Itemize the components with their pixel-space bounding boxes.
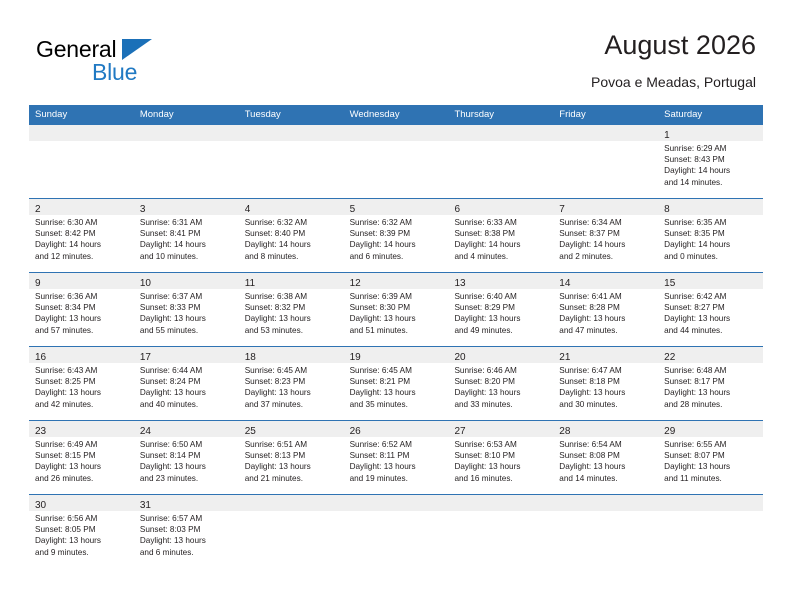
daylight-text-line1: Daylight: 14 hours xyxy=(245,239,340,250)
day-number-band: 12 xyxy=(344,273,449,289)
day-number: 6 xyxy=(448,204,460,215)
day-number-band: 6 xyxy=(448,199,553,215)
day-cell[interactable]: 8Sunrise: 6:35 AMSunset: 8:35 PMDaylight… xyxy=(658,199,763,272)
day-details: Sunrise: 6:47 AMSunset: 8:18 PMDaylight:… xyxy=(553,363,658,410)
daylight-text-line1: Daylight: 13 hours xyxy=(664,313,759,324)
daylight-text-line2: and 2 minutes. xyxy=(559,251,654,262)
sunrise-text: Sunrise: 6:45 AM xyxy=(350,365,445,376)
day-number: 28 xyxy=(553,426,570,437)
sunrise-text: Sunrise: 6:53 AM xyxy=(454,439,549,450)
day-details: Sunrise: 6:45 AMSunset: 8:21 PMDaylight:… xyxy=(344,363,449,410)
daylight-text-line1: Daylight: 13 hours xyxy=(140,535,235,546)
daylight-text-line2: and 47 minutes. xyxy=(559,325,654,336)
sunset-text: Sunset: 8:33 PM xyxy=(140,302,235,313)
day-number-band xyxy=(448,125,553,141)
daylight-text-line1: Daylight: 13 hours xyxy=(559,313,654,324)
sunrise-text: Sunrise: 6:32 AM xyxy=(350,217,445,228)
weekday-header-saturday: Saturday xyxy=(658,105,763,125)
sunrise-text: Sunrise: 6:35 AM xyxy=(664,217,759,228)
day-details: Sunrise: 6:32 AMSunset: 8:40 PMDaylight:… xyxy=(239,215,344,262)
sunrise-text: Sunrise: 6:33 AM xyxy=(454,217,549,228)
day-cell[interactable]: 3Sunrise: 6:31 AMSunset: 8:41 PMDaylight… xyxy=(134,199,239,272)
day-details: Sunrise: 6:32 AMSunset: 8:39 PMDaylight:… xyxy=(344,215,449,262)
day-details: Sunrise: 6:39 AMSunset: 8:30 PMDaylight:… xyxy=(344,289,449,336)
week-row: 16Sunrise: 6:43 AMSunset: 8:25 PMDayligh… xyxy=(29,346,763,420)
daylight-text-line1: Daylight: 13 hours xyxy=(454,461,549,472)
day-number: 8 xyxy=(658,204,670,215)
sunset-text: Sunset: 8:41 PM xyxy=(140,228,235,239)
daylight-text-line1: Daylight: 13 hours xyxy=(35,387,130,398)
page-header: General Blue August 2026 Povoa e Meadas,… xyxy=(0,0,792,104)
sunset-text: Sunset: 8:43 PM xyxy=(664,154,759,165)
day-details: Sunrise: 6:57 AMSunset: 8:03 PMDaylight:… xyxy=(134,511,239,558)
daylight-text-line1: Daylight: 13 hours xyxy=(350,313,445,324)
sunrise-text: Sunrise: 6:54 AM xyxy=(559,439,654,450)
daylight-text-line1: Daylight: 14 hours xyxy=(140,239,235,250)
day-details: Sunrise: 6:36 AMSunset: 8:34 PMDaylight:… xyxy=(29,289,134,336)
day-number: 25 xyxy=(239,426,256,437)
weekday-header-thursday: Thursday xyxy=(448,105,553,125)
sunset-text: Sunset: 8:40 PM xyxy=(245,228,340,239)
day-cell[interactable]: 16Sunrise: 6:43 AMSunset: 8:25 PMDayligh… xyxy=(29,347,134,420)
day-number: 13 xyxy=(448,278,465,289)
week-row: 2Sunrise: 6:30 AMSunset: 8:42 PMDaylight… xyxy=(29,198,763,272)
day-number: 31 xyxy=(134,500,151,511)
day-details: Sunrise: 6:29 AMSunset: 8:43 PMDaylight:… xyxy=(658,141,763,188)
day-number: 18 xyxy=(239,352,256,363)
day-cell[interactable]: 22Sunrise: 6:48 AMSunset: 8:17 PMDayligh… xyxy=(658,347,763,420)
daylight-text-line2: and 44 minutes. xyxy=(664,325,759,336)
day-details: Sunrise: 6:44 AMSunset: 8:24 PMDaylight:… xyxy=(134,363,239,410)
sunrise-text: Sunrise: 6:29 AM xyxy=(664,143,759,154)
sunrise-text: Sunrise: 6:36 AM xyxy=(35,291,130,302)
day-number-band: 31 xyxy=(134,495,239,511)
day-number-band xyxy=(553,495,658,511)
day-number xyxy=(344,130,350,141)
triangle-icon xyxy=(122,39,152,60)
day-cell[interactable]: 13Sunrise: 6:40 AMSunset: 8:29 PMDayligh… xyxy=(448,273,553,346)
day-number: 7 xyxy=(553,204,565,215)
day-number: 3 xyxy=(134,204,146,215)
sunset-text: Sunset: 8:11 PM xyxy=(350,450,445,461)
daylight-text-line1: Daylight: 14 hours xyxy=(454,239,549,250)
day-details: Sunrise: 6:50 AMSunset: 8:14 PMDaylight:… xyxy=(134,437,239,484)
day-details: Sunrise: 6:31 AMSunset: 8:41 PMDaylight:… xyxy=(134,215,239,262)
day-number: 10 xyxy=(134,278,151,289)
sunrise-text: Sunrise: 6:46 AM xyxy=(454,365,549,376)
sunrise-text: Sunrise: 6:45 AM xyxy=(245,365,340,376)
daylight-text-line2: and 16 minutes. xyxy=(454,473,549,484)
sunset-text: Sunset: 8:03 PM xyxy=(140,524,235,535)
day-number-band: 29 xyxy=(658,421,763,437)
sunrise-text: Sunrise: 6:30 AM xyxy=(35,217,130,228)
day-cell[interactable]: 12Sunrise: 6:39 AMSunset: 8:30 PMDayligh… xyxy=(344,273,449,346)
daylight-text-line2: and 30 minutes. xyxy=(559,399,654,410)
sunset-text: Sunset: 8:08 PM xyxy=(559,450,654,461)
day-number xyxy=(553,130,559,141)
daylight-text-line1: Daylight: 13 hours xyxy=(245,387,340,398)
daylight-text-line2: and 28 minutes. xyxy=(664,399,759,410)
daylight-text-line1: Daylight: 13 hours xyxy=(140,313,235,324)
daylight-text-line2: and 23 minutes. xyxy=(140,473,235,484)
sunset-text: Sunset: 8:42 PM xyxy=(35,228,130,239)
day-number-band: 20 xyxy=(448,347,553,363)
day-cell-empty xyxy=(658,495,763,568)
daylight-text-line2: and 35 minutes. xyxy=(350,399,445,410)
day-cell[interactable]: 14Sunrise: 6:41 AMSunset: 8:28 PMDayligh… xyxy=(553,273,658,346)
day-number-band: 13 xyxy=(448,273,553,289)
sunrise-text: Sunrise: 6:43 AM xyxy=(35,365,130,376)
page-title: August 2026 xyxy=(591,28,756,62)
day-cell[interactable]: 2Sunrise: 6:30 AMSunset: 8:42 PMDaylight… xyxy=(29,199,134,272)
sunset-text: Sunset: 8:28 PM xyxy=(559,302,654,313)
day-number: 11 xyxy=(239,278,255,289)
sunrise-text: Sunrise: 6:37 AM xyxy=(140,291,235,302)
daylight-text-line2: and 26 minutes. xyxy=(35,473,130,484)
sunrise-text: Sunrise: 6:55 AM xyxy=(664,439,759,450)
day-details: Sunrise: 6:35 AMSunset: 8:35 PMDaylight:… xyxy=(658,215,763,262)
day-details: Sunrise: 6:38 AMSunset: 8:32 PMDaylight:… xyxy=(239,289,344,336)
sunset-text: Sunset: 8:15 PM xyxy=(35,450,130,461)
daylight-text-line2: and 53 minutes. xyxy=(245,325,340,336)
day-number: 24 xyxy=(134,426,151,437)
day-number: 22 xyxy=(658,352,675,363)
day-cell[interactable]: 30Sunrise: 6:56 AMSunset: 8:05 PMDayligh… xyxy=(29,495,134,568)
daylight-text-line2: and 19 minutes. xyxy=(350,473,445,484)
sunset-text: Sunset: 8:37 PM xyxy=(559,228,654,239)
day-details: Sunrise: 6:42 AMSunset: 8:27 PMDaylight:… xyxy=(658,289,763,336)
day-number: 30 xyxy=(29,500,46,511)
day-number: 5 xyxy=(344,204,356,215)
day-number: 12 xyxy=(344,278,361,289)
sunrise-text: Sunrise: 6:38 AM xyxy=(245,291,340,302)
day-cell[interactable]: 7Sunrise: 6:34 AMSunset: 8:37 PMDaylight… xyxy=(553,199,658,272)
daylight-text-line2: and 51 minutes. xyxy=(350,325,445,336)
daylight-text-line2: and 57 minutes. xyxy=(35,325,130,336)
day-cell-empty xyxy=(448,125,553,198)
day-cell[interactable]: 29Sunrise: 6:55 AMSunset: 8:07 PMDayligh… xyxy=(658,421,763,494)
day-number xyxy=(553,500,559,511)
day-number-band: 10 xyxy=(134,273,239,289)
daylight-text-line2: and 4 minutes. xyxy=(454,251,549,262)
daylight-text-line1: Daylight: 13 hours xyxy=(35,461,130,472)
daylight-text-line1: Daylight: 14 hours xyxy=(35,239,130,250)
sunset-text: Sunset: 8:05 PM xyxy=(35,524,130,535)
daylight-text-line2: and 10 minutes. xyxy=(140,251,235,262)
day-cell[interactable]: 5Sunrise: 6:32 AMSunset: 8:39 PMDaylight… xyxy=(344,199,449,272)
weekday-header-wednesday: Wednesday xyxy=(344,105,449,125)
day-cell[interactable]: 10Sunrise: 6:37 AMSunset: 8:33 PMDayligh… xyxy=(134,273,239,346)
week-row: 23Sunrise: 6:49 AMSunset: 8:15 PMDayligh… xyxy=(29,420,763,494)
daylight-text-line1: Daylight: 13 hours xyxy=(664,461,759,472)
sunrise-text: Sunrise: 6:41 AM xyxy=(559,291,654,302)
day-number-band xyxy=(344,495,449,511)
day-cell-empty xyxy=(239,125,344,198)
day-number: 15 xyxy=(658,278,675,289)
day-number: 21 xyxy=(553,352,570,363)
day-cell[interactable]: 20Sunrise: 6:46 AMSunset: 8:20 PMDayligh… xyxy=(448,347,553,420)
day-cell[interactable]: 23Sunrise: 6:49 AMSunset: 8:15 PMDayligh… xyxy=(29,421,134,494)
day-number: 20 xyxy=(448,352,465,363)
daylight-text-line1: Daylight: 13 hours xyxy=(245,461,340,472)
day-number-band xyxy=(448,495,553,511)
sunrise-text: Sunrise: 6:34 AM xyxy=(559,217,654,228)
logo-text-blue: Blue xyxy=(92,59,137,85)
day-number: 16 xyxy=(29,352,46,363)
daylight-text-line1: Daylight: 13 hours xyxy=(559,387,654,398)
daylight-text-line1: Daylight: 13 hours xyxy=(245,313,340,324)
general-blue-logo[interactable]: General Blue xyxy=(36,36,216,92)
day-number-band xyxy=(29,125,134,141)
day-number: 1 xyxy=(658,130,670,141)
day-number-band: 8 xyxy=(658,199,763,215)
day-number: 2 xyxy=(29,204,41,215)
day-cell[interactable]: 11Sunrise: 6:38 AMSunset: 8:32 PMDayligh… xyxy=(239,273,344,346)
day-details: Sunrise: 6:40 AMSunset: 8:29 PMDaylight:… xyxy=(448,289,553,336)
sunset-text: Sunset: 8:25 PM xyxy=(35,376,130,387)
sunset-text: Sunset: 8:35 PM xyxy=(664,228,759,239)
sunrise-text: Sunrise: 6:31 AM xyxy=(140,217,235,228)
day-number-band: 7 xyxy=(553,199,658,215)
day-number-band: 19 xyxy=(344,347,449,363)
day-number-band: 15 xyxy=(658,273,763,289)
day-cell[interactable]: 28Sunrise: 6:54 AMSunset: 8:08 PMDayligh… xyxy=(553,421,658,494)
day-number: 14 xyxy=(553,278,570,289)
sunset-text: Sunset: 8:17 PM xyxy=(664,376,759,387)
day-number: 17 xyxy=(134,352,151,363)
daylight-text-line2: and 49 minutes. xyxy=(454,325,549,336)
day-details: Sunrise: 6:56 AMSunset: 8:05 PMDaylight:… xyxy=(29,511,134,558)
day-number xyxy=(448,500,454,511)
sunrise-text: Sunrise: 6:40 AM xyxy=(454,291,549,302)
sunrise-text: Sunrise: 6:48 AM xyxy=(664,365,759,376)
daylight-text-line2: and 37 minutes. xyxy=(245,399,340,410)
day-cell[interactable]: 27Sunrise: 6:53 AMSunset: 8:10 PMDayligh… xyxy=(448,421,553,494)
day-number xyxy=(239,130,245,141)
day-number-band xyxy=(344,125,449,141)
day-details: Sunrise: 6:55 AMSunset: 8:07 PMDaylight:… xyxy=(658,437,763,484)
day-cell[interactable]: 18Sunrise: 6:45 AMSunset: 8:23 PMDayligh… xyxy=(239,347,344,420)
day-details: Sunrise: 6:41 AMSunset: 8:28 PMDaylight:… xyxy=(553,289,658,336)
page-subtitle: Povoa e Meadas, Portugal xyxy=(591,72,756,92)
day-number-band: 1 xyxy=(658,125,763,141)
day-cell[interactable]: 31Sunrise: 6:57 AMSunset: 8:03 PMDayligh… xyxy=(134,495,239,568)
day-number-band xyxy=(658,495,763,511)
sunrise-text: Sunrise: 6:56 AM xyxy=(35,513,130,524)
daylight-text-line2: and 55 minutes. xyxy=(140,325,235,336)
day-number xyxy=(658,500,664,511)
day-cell-empty xyxy=(344,125,449,198)
sunset-text: Sunset: 8:39 PM xyxy=(350,228,445,239)
sunset-text: Sunset: 8:24 PM xyxy=(140,376,235,387)
sunset-text: Sunset: 8:32 PM xyxy=(245,302,340,313)
day-number: 23 xyxy=(29,426,46,437)
day-cell[interactable]: 4Sunrise: 6:32 AMSunset: 8:40 PMDaylight… xyxy=(239,199,344,272)
day-number-band: 23 xyxy=(29,421,134,437)
day-cell[interactable]: 17Sunrise: 6:44 AMSunset: 8:24 PMDayligh… xyxy=(134,347,239,420)
day-cell-empty xyxy=(448,495,553,568)
daylight-text-line1: Daylight: 14 hours xyxy=(350,239,445,250)
sunset-text: Sunset: 8:14 PM xyxy=(140,450,235,461)
sunset-text: Sunset: 8:34 PM xyxy=(35,302,130,313)
day-number xyxy=(344,500,350,511)
weekday-header-friday: Friday xyxy=(553,105,658,125)
sunrise-text: Sunrise: 6:49 AM xyxy=(35,439,130,450)
sunset-text: Sunset: 8:10 PM xyxy=(454,450,549,461)
sunset-text: Sunset: 8:27 PM xyxy=(664,302,759,313)
daylight-text-line2: and 21 minutes. xyxy=(245,473,340,484)
day-cell[interactable]: 21Sunrise: 6:47 AMSunset: 8:18 PMDayligh… xyxy=(553,347,658,420)
day-number-band: 16 xyxy=(29,347,134,363)
day-number xyxy=(134,130,140,141)
day-cell[interactable]: 26Sunrise: 6:52 AMSunset: 8:11 PMDayligh… xyxy=(344,421,449,494)
daylight-text-line1: Daylight: 13 hours xyxy=(35,535,130,546)
daylight-text-line2: and 12 minutes. xyxy=(35,251,130,262)
sunrise-text: Sunrise: 6:51 AM xyxy=(245,439,340,450)
day-details: Sunrise: 6:46 AMSunset: 8:20 PMDaylight:… xyxy=(448,363,553,410)
title-block: August 2026 Povoa e Meadas, Portugal xyxy=(591,28,756,92)
sunset-text: Sunset: 8:07 PM xyxy=(664,450,759,461)
day-cell-empty xyxy=(553,125,658,198)
day-cell[interactable]: 9Sunrise: 6:36 AMSunset: 8:34 PMDaylight… xyxy=(29,273,134,346)
calendar-page: General Blue August 2026 Povoa e Meadas,… xyxy=(0,0,792,612)
daylight-text-line2: and 9 minutes. xyxy=(35,547,130,558)
day-number-band: 21 xyxy=(553,347,658,363)
day-number-band: 2 xyxy=(29,199,134,215)
sunrise-text: Sunrise: 6:57 AM xyxy=(140,513,235,524)
sunrise-text: Sunrise: 6:47 AM xyxy=(559,365,654,376)
day-number-band: 28 xyxy=(553,421,658,437)
calendar-grid: SundayMondayTuesdayWednesdayThursdayFrid… xyxy=(29,105,763,568)
daylight-text-line1: Daylight: 14 hours xyxy=(559,239,654,250)
sunset-text: Sunset: 8:30 PM xyxy=(350,302,445,313)
day-number-band: 22 xyxy=(658,347,763,363)
day-details: Sunrise: 6:37 AMSunset: 8:33 PMDaylight:… xyxy=(134,289,239,336)
day-details: Sunrise: 6:34 AMSunset: 8:37 PMDaylight:… xyxy=(553,215,658,262)
day-number-band: 30 xyxy=(29,495,134,511)
day-cell[interactable]: 25Sunrise: 6:51 AMSunset: 8:13 PMDayligh… xyxy=(239,421,344,494)
daylight-text-line2: and 6 minutes. xyxy=(140,547,235,558)
weekday-header-sunday: Sunday xyxy=(29,105,134,125)
day-number-band: 26 xyxy=(344,421,449,437)
day-details: Sunrise: 6:43 AMSunset: 8:25 PMDaylight:… xyxy=(29,363,134,410)
day-number-band: 25 xyxy=(239,421,344,437)
daylight-text-line1: Daylight: 13 hours xyxy=(454,313,549,324)
daylight-text-line2: and 14 minutes. xyxy=(664,177,759,188)
day-cell-empty xyxy=(239,495,344,568)
daylight-text-line2: and 14 minutes. xyxy=(559,473,654,484)
daylight-text-line1: Daylight: 13 hours xyxy=(350,387,445,398)
daylight-text-line1: Daylight: 13 hours xyxy=(664,387,759,398)
day-details: Sunrise: 6:54 AMSunset: 8:08 PMDaylight:… xyxy=(553,437,658,484)
day-cell-empty xyxy=(134,125,239,198)
day-cell-empty xyxy=(29,125,134,198)
daylight-text-line2: and 40 minutes. xyxy=(140,399,235,410)
sunset-text: Sunset: 8:21 PM xyxy=(350,376,445,387)
day-number xyxy=(239,500,245,511)
week-row: 9Sunrise: 6:36 AMSunset: 8:34 PMDaylight… xyxy=(29,272,763,346)
day-number: 19 xyxy=(344,352,361,363)
day-number-band: 24 xyxy=(134,421,239,437)
day-details: Sunrise: 6:51 AMSunset: 8:13 PMDaylight:… xyxy=(239,437,344,484)
day-cell[interactable]: 6Sunrise: 6:33 AMSunset: 8:38 PMDaylight… xyxy=(448,199,553,272)
sunset-text: Sunset: 8:29 PM xyxy=(454,302,549,313)
day-details: Sunrise: 6:49 AMSunset: 8:15 PMDaylight:… xyxy=(29,437,134,484)
day-number-band: 3 xyxy=(134,199,239,215)
day-details: Sunrise: 6:48 AMSunset: 8:17 PMDaylight:… xyxy=(658,363,763,410)
day-number-band xyxy=(553,125,658,141)
sunrise-text: Sunrise: 6:39 AM xyxy=(350,291,445,302)
day-number-band: 4 xyxy=(239,199,344,215)
daylight-text-line2: and 33 minutes. xyxy=(454,399,549,410)
daylight-text-line2: and 6 minutes. xyxy=(350,251,445,262)
daylight-text-line1: Daylight: 14 hours xyxy=(664,165,759,176)
daylight-text-line1: Daylight: 13 hours xyxy=(350,461,445,472)
day-number-band: 14 xyxy=(553,273,658,289)
sunrise-text: Sunrise: 6:44 AM xyxy=(140,365,235,376)
day-cell[interactable]: 19Sunrise: 6:45 AMSunset: 8:21 PMDayligh… xyxy=(344,347,449,420)
sunset-text: Sunset: 8:20 PM xyxy=(454,376,549,387)
day-details: Sunrise: 6:33 AMSunset: 8:38 PMDaylight:… xyxy=(448,215,553,262)
sunrise-text: Sunrise: 6:32 AM xyxy=(245,217,340,228)
daylight-text-line1: Daylight: 13 hours xyxy=(559,461,654,472)
day-number-band: 9 xyxy=(29,273,134,289)
sunset-text: Sunset: 8:38 PM xyxy=(454,228,549,239)
day-number-band: 17 xyxy=(134,347,239,363)
daylight-text-line2: and 8 minutes. xyxy=(245,251,340,262)
sunset-text: Sunset: 8:23 PM xyxy=(245,376,340,387)
day-cell[interactable]: 24Sunrise: 6:50 AMSunset: 8:14 PMDayligh… xyxy=(134,421,239,494)
day-cell[interactable]: 1Sunrise: 6:29 AMSunset: 8:43 PMDaylight… xyxy=(658,125,763,198)
day-details: Sunrise: 6:30 AMSunset: 8:42 PMDaylight:… xyxy=(29,215,134,262)
sunrise-text: Sunrise: 6:42 AM xyxy=(664,291,759,302)
sunrise-text: Sunrise: 6:52 AM xyxy=(350,439,445,450)
daylight-text-line1: Daylight: 13 hours xyxy=(35,313,130,324)
weekday-header-row: SundayMondayTuesdayWednesdayThursdayFrid… xyxy=(29,105,763,125)
daylight-text-line1: Daylight: 14 hours xyxy=(664,239,759,250)
week-row: 1Sunrise: 6:29 AMSunset: 8:43 PMDaylight… xyxy=(29,125,763,198)
sunset-text: Sunset: 8:13 PM xyxy=(245,450,340,461)
day-number: 4 xyxy=(239,204,251,215)
day-number: 26 xyxy=(344,426,361,437)
day-cell[interactable]: 15Sunrise: 6:42 AMSunset: 8:27 PMDayligh… xyxy=(658,273,763,346)
day-details: Sunrise: 6:53 AMSunset: 8:10 PMDaylight:… xyxy=(448,437,553,484)
daylight-text-line1: Daylight: 13 hours xyxy=(454,387,549,398)
sunrise-text: Sunrise: 6:50 AM xyxy=(140,439,235,450)
daylight-text-line1: Daylight: 13 hours xyxy=(140,387,235,398)
day-number xyxy=(448,130,454,141)
daylight-text-line2: and 42 minutes. xyxy=(35,399,130,410)
week-row: 30Sunrise: 6:56 AMSunset: 8:05 PMDayligh… xyxy=(29,494,763,568)
calendar-weeks: 1Sunrise: 6:29 AMSunset: 8:43 PMDaylight… xyxy=(29,125,763,568)
day-cell-empty xyxy=(344,495,449,568)
day-number xyxy=(29,130,35,141)
day-details: Sunrise: 6:52 AMSunset: 8:11 PMDaylight:… xyxy=(344,437,449,484)
day-cell-empty xyxy=(553,495,658,568)
weekday-header-monday: Monday xyxy=(134,105,239,125)
day-number-band xyxy=(134,125,239,141)
day-number-band: 18 xyxy=(239,347,344,363)
daylight-text-line1: Daylight: 13 hours xyxy=(140,461,235,472)
daylight-text-line2: and 11 minutes. xyxy=(664,473,759,484)
day-number-band: 27 xyxy=(448,421,553,437)
daylight-text-line2: and 0 minutes. xyxy=(664,251,759,262)
day-number-band xyxy=(239,495,344,511)
day-number-band xyxy=(239,125,344,141)
sunset-text: Sunset: 8:18 PM xyxy=(559,376,654,387)
day-number: 29 xyxy=(658,426,675,437)
day-number: 27 xyxy=(448,426,465,437)
